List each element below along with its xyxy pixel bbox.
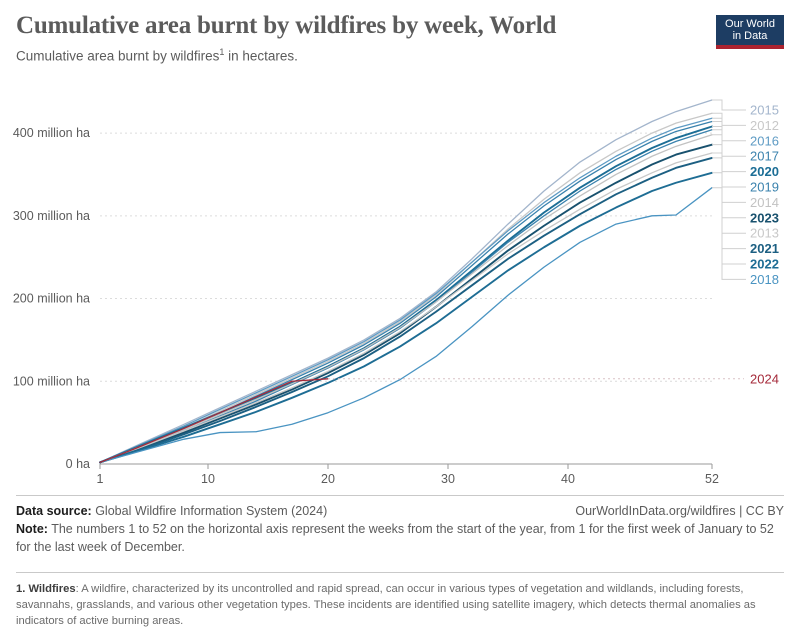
data-source-label: Data source: xyxy=(16,504,92,518)
series-line-2012[interactable] xyxy=(100,113,712,462)
owid-link[interactable]: OurWorldInData.org/wildfires | CC BY xyxy=(575,503,784,520)
note-label: Note: xyxy=(16,522,48,536)
data-source-value: Global Wildfire Information System (2024… xyxy=(92,504,328,518)
subtitle-text-suffix: in hectares. xyxy=(224,48,298,63)
legend-label-2016[interactable]: 2016 xyxy=(750,133,779,148)
legend-label-2022[interactable]: 2022 xyxy=(750,257,779,272)
y-axis-tick-label: 300 million ha xyxy=(13,209,90,223)
note-row: Note: The numbers 1 to 52 on the horizon… xyxy=(16,521,784,556)
x-axis-tick-label: 40 xyxy=(561,472,575,486)
chart-page: Cumulative area burnt by wildfires by we… xyxy=(0,0,800,636)
series-line-2016[interactable] xyxy=(100,118,712,462)
series-line-2013[interactable] xyxy=(100,153,712,462)
chart-footer: Data source: Global Wildfire Information… xyxy=(16,495,784,556)
legend-label-2019[interactable]: 2019 xyxy=(750,180,779,195)
subtitle-text: Cumulative area burnt by wildfires xyxy=(16,48,219,63)
series-line-2020[interactable] xyxy=(100,126,712,462)
legend-label-2018[interactable]: 2018 xyxy=(750,272,779,287)
y-axis-tick-label: 400 million ha xyxy=(13,126,90,140)
logo-line-2: in Data xyxy=(716,31,784,43)
legend-label-2024[interactable]: 2024 xyxy=(750,371,779,386)
y-axis-tick-label: 0 ha xyxy=(66,457,90,471)
footnote-term: 1. Wildfires xyxy=(16,583,76,595)
series-line-2021[interactable] xyxy=(100,158,712,462)
legend-connector-2022 xyxy=(712,173,746,264)
footnote-text: : A wildfire, characterized by its uncon… xyxy=(16,583,756,627)
owid-logo[interactable]: Our World in Data xyxy=(716,15,784,49)
legend-connector-2013 xyxy=(712,153,746,233)
chart-plot-area[interactable]: 0 ha100 million ha200 million ha300 mill… xyxy=(0,78,800,490)
legend-label-2012[interactable]: 2012 xyxy=(750,118,779,133)
legend-label-2023[interactable]: 2023 xyxy=(750,210,779,225)
data-source-row: Data source: Global Wildfire Information… xyxy=(16,503,784,520)
y-axis-tick-label: 200 million ha xyxy=(13,292,90,306)
legend-label-2020[interactable]: 2020 xyxy=(750,164,779,179)
x-axis-tick-label: 1 xyxy=(97,472,104,486)
x-axis-tick-label: 30 xyxy=(441,472,455,486)
legend-label-2021[interactable]: 2021 xyxy=(750,241,779,256)
chart-header: Cumulative area burnt by wildfires by we… xyxy=(16,12,716,63)
legend-label-2014[interactable]: 2014 xyxy=(750,195,779,210)
line-chart[interactable]: 0 ha100 million ha200 million ha300 mill… xyxy=(0,78,800,490)
legend-label-2015[interactable]: 2015 xyxy=(750,103,779,118)
legend-connector-2015 xyxy=(712,100,746,110)
legend-label-2013[interactable]: 2013 xyxy=(750,226,779,241)
footnote-block: 1. Wildfires: A wildfire, characterized … xyxy=(16,572,784,630)
page-title: Cumulative area burnt by wildfires by we… xyxy=(16,12,716,40)
legend-connector-2020 xyxy=(712,126,746,171)
y-axis-tick-label: 100 million ha xyxy=(13,374,90,388)
x-axis-tick-label: 52 xyxy=(705,472,719,486)
legend-connector-2023 xyxy=(712,145,746,218)
chart-subtitle: Cumulative area burnt by wildfires1 in h… xyxy=(16,47,716,64)
legend-connector-2012 xyxy=(712,113,746,125)
x-axis-tick-label: 20 xyxy=(321,472,335,486)
logo-line-1: Our World xyxy=(716,19,784,31)
legend-label-2017[interactable]: 2017 xyxy=(750,149,779,164)
x-axis-tick-label: 10 xyxy=(201,472,215,486)
note-value: The numbers 1 to 52 on the horizontal ax… xyxy=(16,522,774,553)
